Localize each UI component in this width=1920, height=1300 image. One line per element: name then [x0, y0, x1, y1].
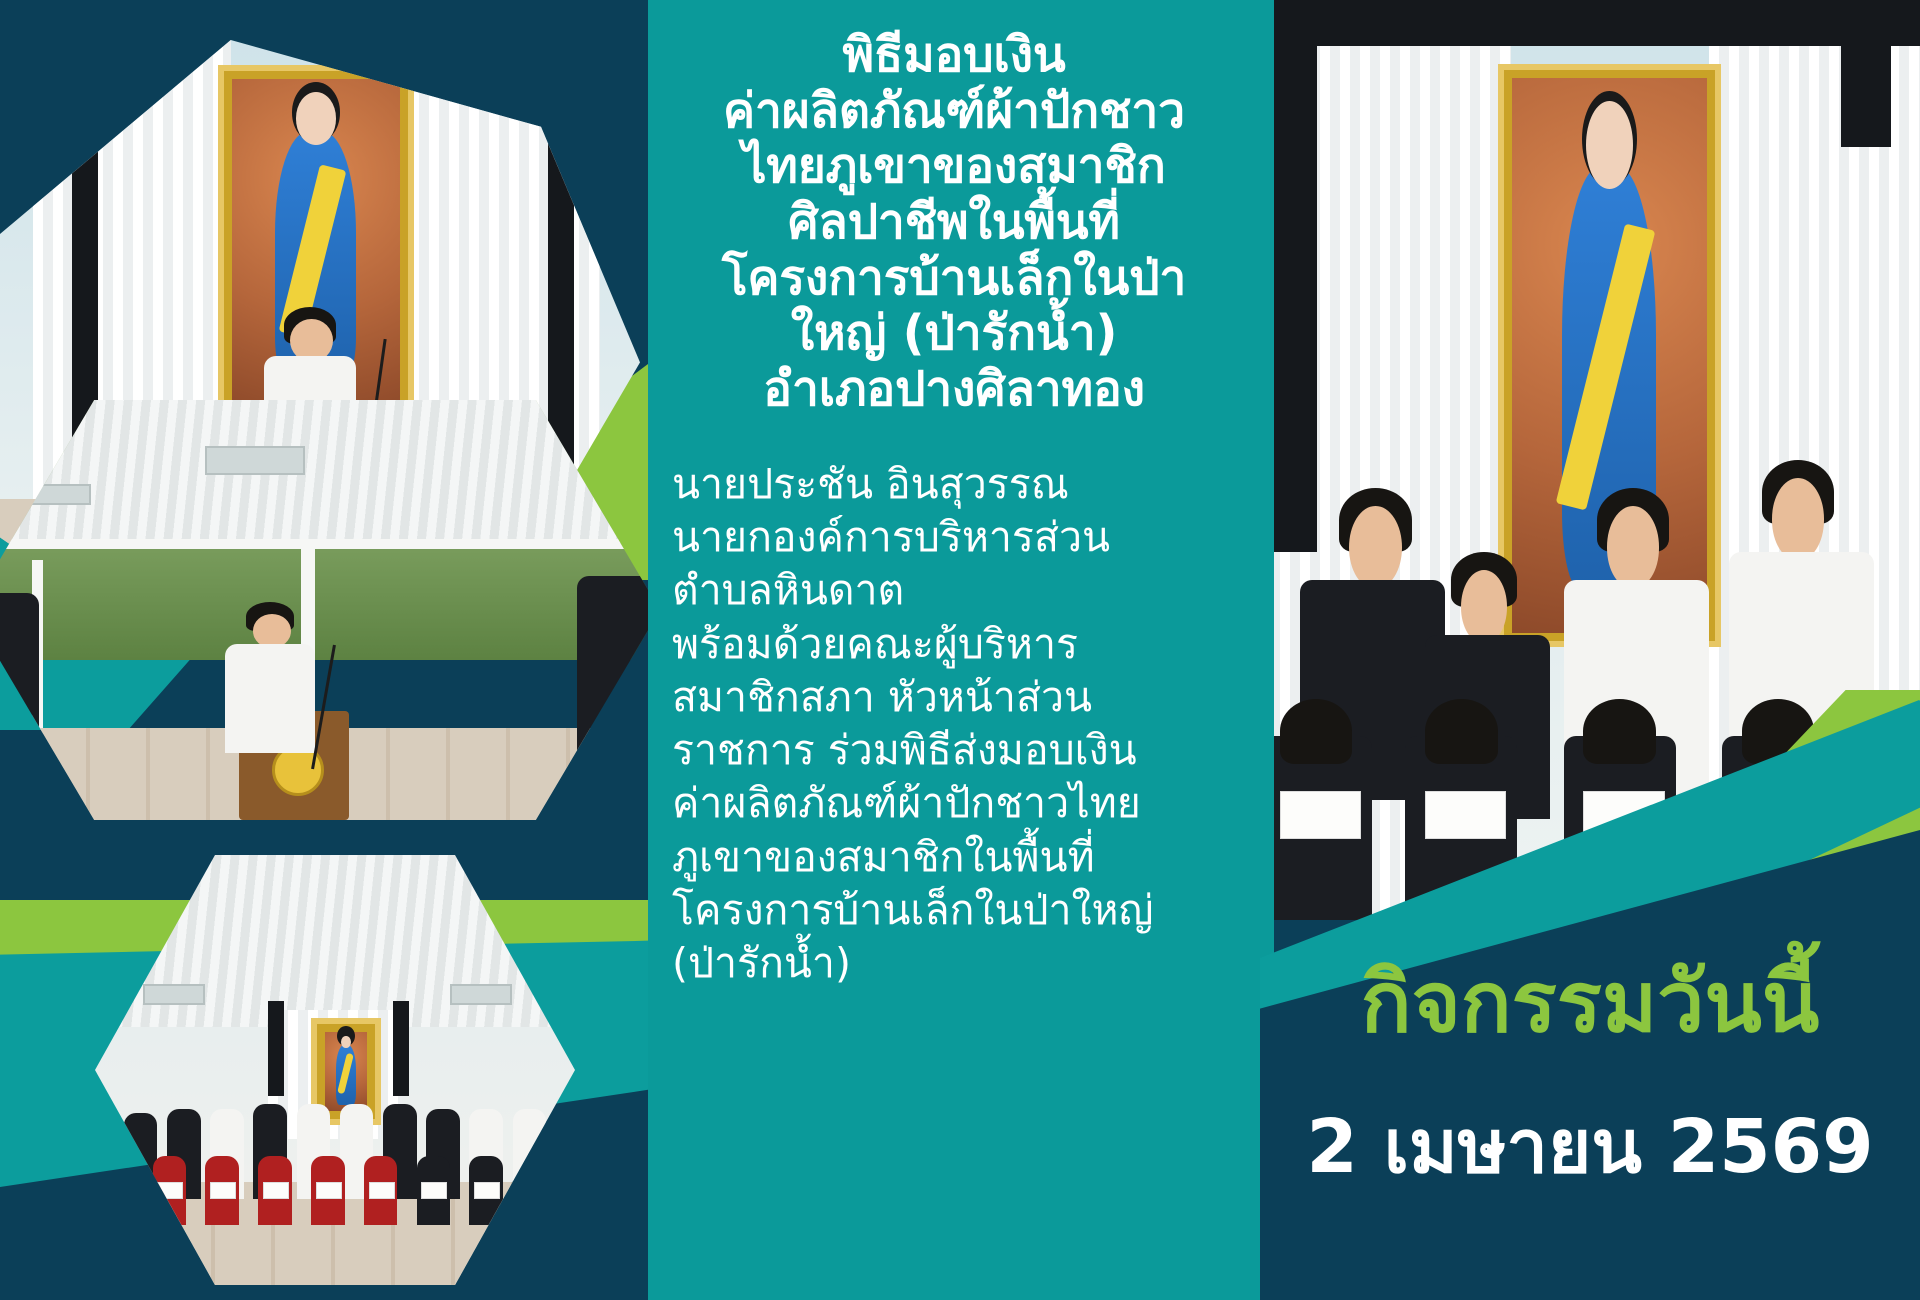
today-activity-label: กิจกรรมวันนี้	[1260, 960, 1920, 1044]
event-title: พิธีมอบเงิน ค่าผลิตภัณฑ์ผ้าปักชาว ไทยภูเ…	[648, 0, 1260, 418]
left-photo-collage	[0, 0, 648, 1300]
poster-canvas: พิธีมอบเงิน ค่าผลิตภัณฑ์ผ้าปักชาว ไทยภูเ…	[0, 0, 1920, 1300]
event-date: 2 เมษายน 2569	[1260, 1110, 1920, 1184]
center-text-panel: พิธีมอบเงิน ค่าผลิตภัณฑ์ผ้าปักชาว ไทยภูเ…	[648, 0, 1260, 1300]
event-description: นายประชัน อินสุวรรณ นายกองค์การบริหารส่ว…	[648, 418, 1260, 991]
teal-left-edge-strip	[1260, 0, 1274, 1060]
right-column: กิจกรรมวันนี้ 2 เมษายน 2569	[1260, 0, 1920, 1300]
photo-speaker-pavilion	[0, 400, 648, 820]
